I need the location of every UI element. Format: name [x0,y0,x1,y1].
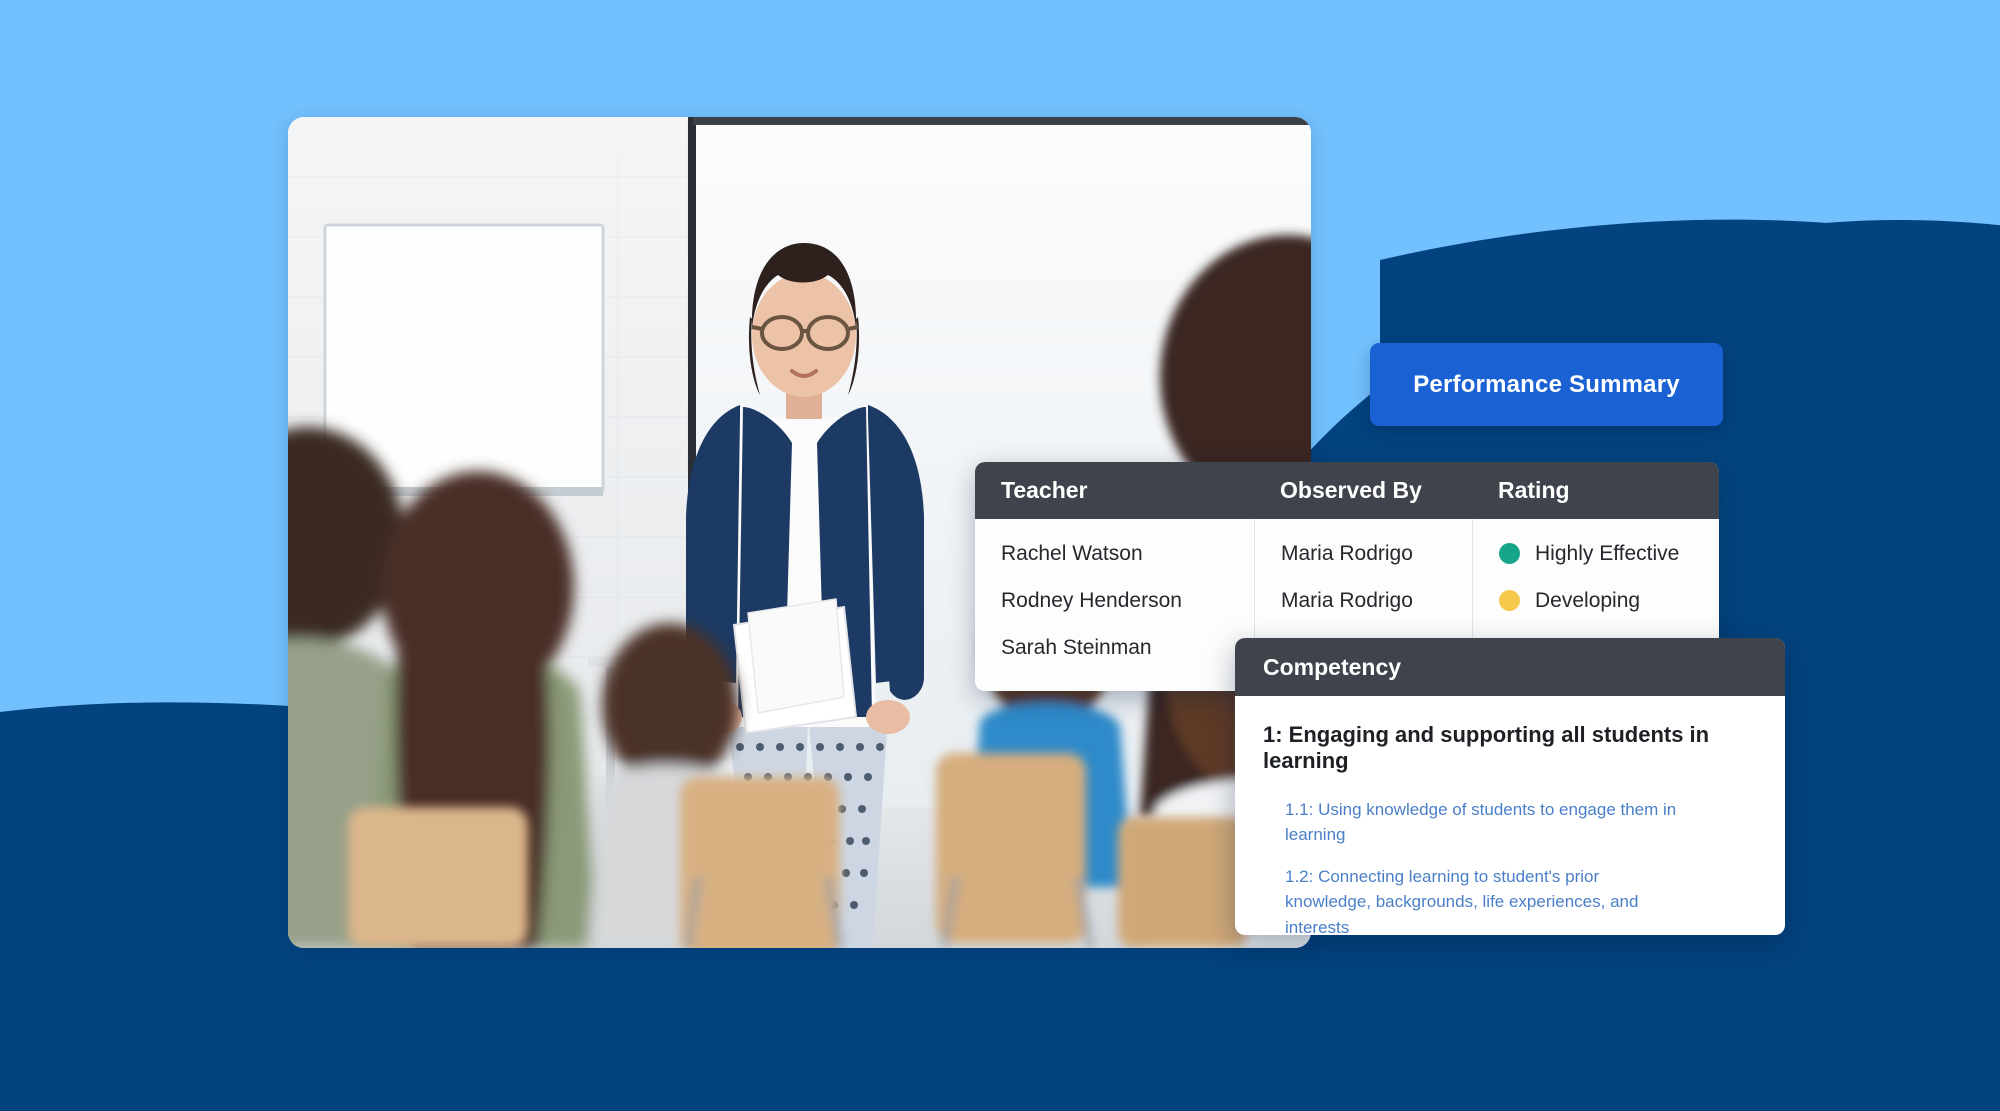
competency-title: 1: Engaging and supporting all students … [1263,722,1757,775]
cell-teacher: Sarah Steinman [975,624,1254,671]
status-badge: Developing [1535,589,1640,613]
cell-observed-by: Maria Rodrigo [1255,577,1472,624]
performance-summary-button[interactable]: Performance Summary [1370,343,1723,426]
competency-card: Competency 1: Engaging and supporting al… [1235,638,1785,935]
status-dot-icon [1499,590,1520,611]
status-dot-icon [1499,543,1520,564]
competency-card-header: Competency [1235,638,1785,696]
table-header-row: Teacher Observed By Rating [975,462,1719,519]
competency-header-title: Competency [1263,654,1401,681]
cell-teacher: Rodney Henderson [975,577,1254,624]
cell-teacher: Rachel Watson [975,530,1254,577]
column-header-rating: Rating [1472,477,1719,504]
cell-observed-by: Maria Rodrigo [1255,530,1472,577]
competency-sub-item-link[interactable]: 1.2: Connecting learning to student's pr… [1285,864,1685,935]
status-badge: Highly Effective [1535,542,1679,566]
cell-rating: Developing [1473,577,1719,624]
competency-card-body: 1: Engaging and supporting all students … [1235,696,1785,935]
column-header-observed-by: Observed By [1254,477,1472,504]
column-teacher: Rachel Watson Rodney Henderson Sarah Ste… [975,519,1254,691]
competency-sub-item-link[interactable]: 1.1: Using knowledge of students to enga… [1285,797,1685,848]
cell-rating: Highly Effective [1473,530,1719,577]
column-header-teacher: Teacher [975,477,1254,504]
